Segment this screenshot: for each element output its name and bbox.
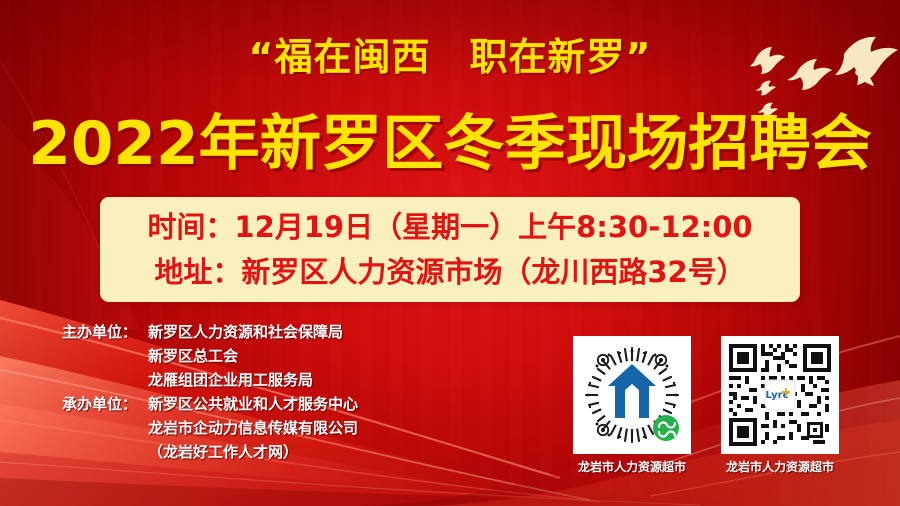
list-item: 龙岩市企动力信息传媒有限公司: [62, 416, 482, 440]
list-item: 承办单位： 新罗区公共就业和人才服务中心: [62, 392, 482, 416]
organizer-value: 龙岩市企动力信息传媒有限公司: [148, 416, 358, 440]
list-item: （龙岩好工作人才网）: [62, 440, 482, 464]
organizer-label: 承办单位：: [62, 392, 148, 416]
list-item: 新罗区总工会: [62, 344, 482, 368]
wechat-miniprogram-qr-icon[interactable]: [573, 336, 691, 454]
event-info-box: 时间：12月19日（星期一）上午8:30-12:00 地址：新罗区人力资源市场（…: [100, 197, 800, 302]
qr-caption: 龙岩市人力资源超市: [721, 460, 839, 475]
qr-block-website: Lyrc 龙岩市人力资源超市: [721, 336, 839, 475]
event-address-line: 地址：新罗区人力资源市场（龙川西路32号）: [114, 250, 786, 295]
qr-block-miniprogram: 龙岩市人力资源超市: [573, 336, 691, 475]
qr-caption: 龙岩市人力资源超市: [573, 460, 691, 475]
recruitment-poster: “福在闽西 职在新罗” 2022年新罗区冬季现场招聘会 时间：12月19日（星期…: [0, 0, 900, 506]
organizer-value: 新罗区人力资源和社会保障局: [148, 320, 343, 344]
organizer-list: 主办单位： 新罗区人力资源和社会保障局 新罗区总工会 龙雁组团企业用工服务局 承…: [62, 320, 482, 464]
organizer-value: 新罗区总工会: [148, 344, 238, 368]
poster-slogan: “福在闽西 职在新罗”: [0, 34, 900, 80]
list-item: 龙雁组团企业用工服务局: [62, 368, 482, 392]
organizer-value: 龙雁组团企业用工服务局: [148, 368, 313, 392]
organizer-label: 主办单位：: [62, 320, 148, 344]
page-title: 2022年新罗区冬季现场招聘会: [0, 108, 900, 180]
event-time-line: 时间：12月19日（星期一）上午8:30-12:00: [114, 205, 786, 250]
organizer-value: （龙岩好工作人才网）: [148, 440, 298, 464]
qr-code-icon[interactable]: Lyrc: [721, 336, 839, 454]
list-item: 主办单位： 新罗区人力资源和社会保障局: [62, 320, 482, 344]
organizer-value: 新罗区公共就业和人才服务中心: [148, 392, 358, 416]
